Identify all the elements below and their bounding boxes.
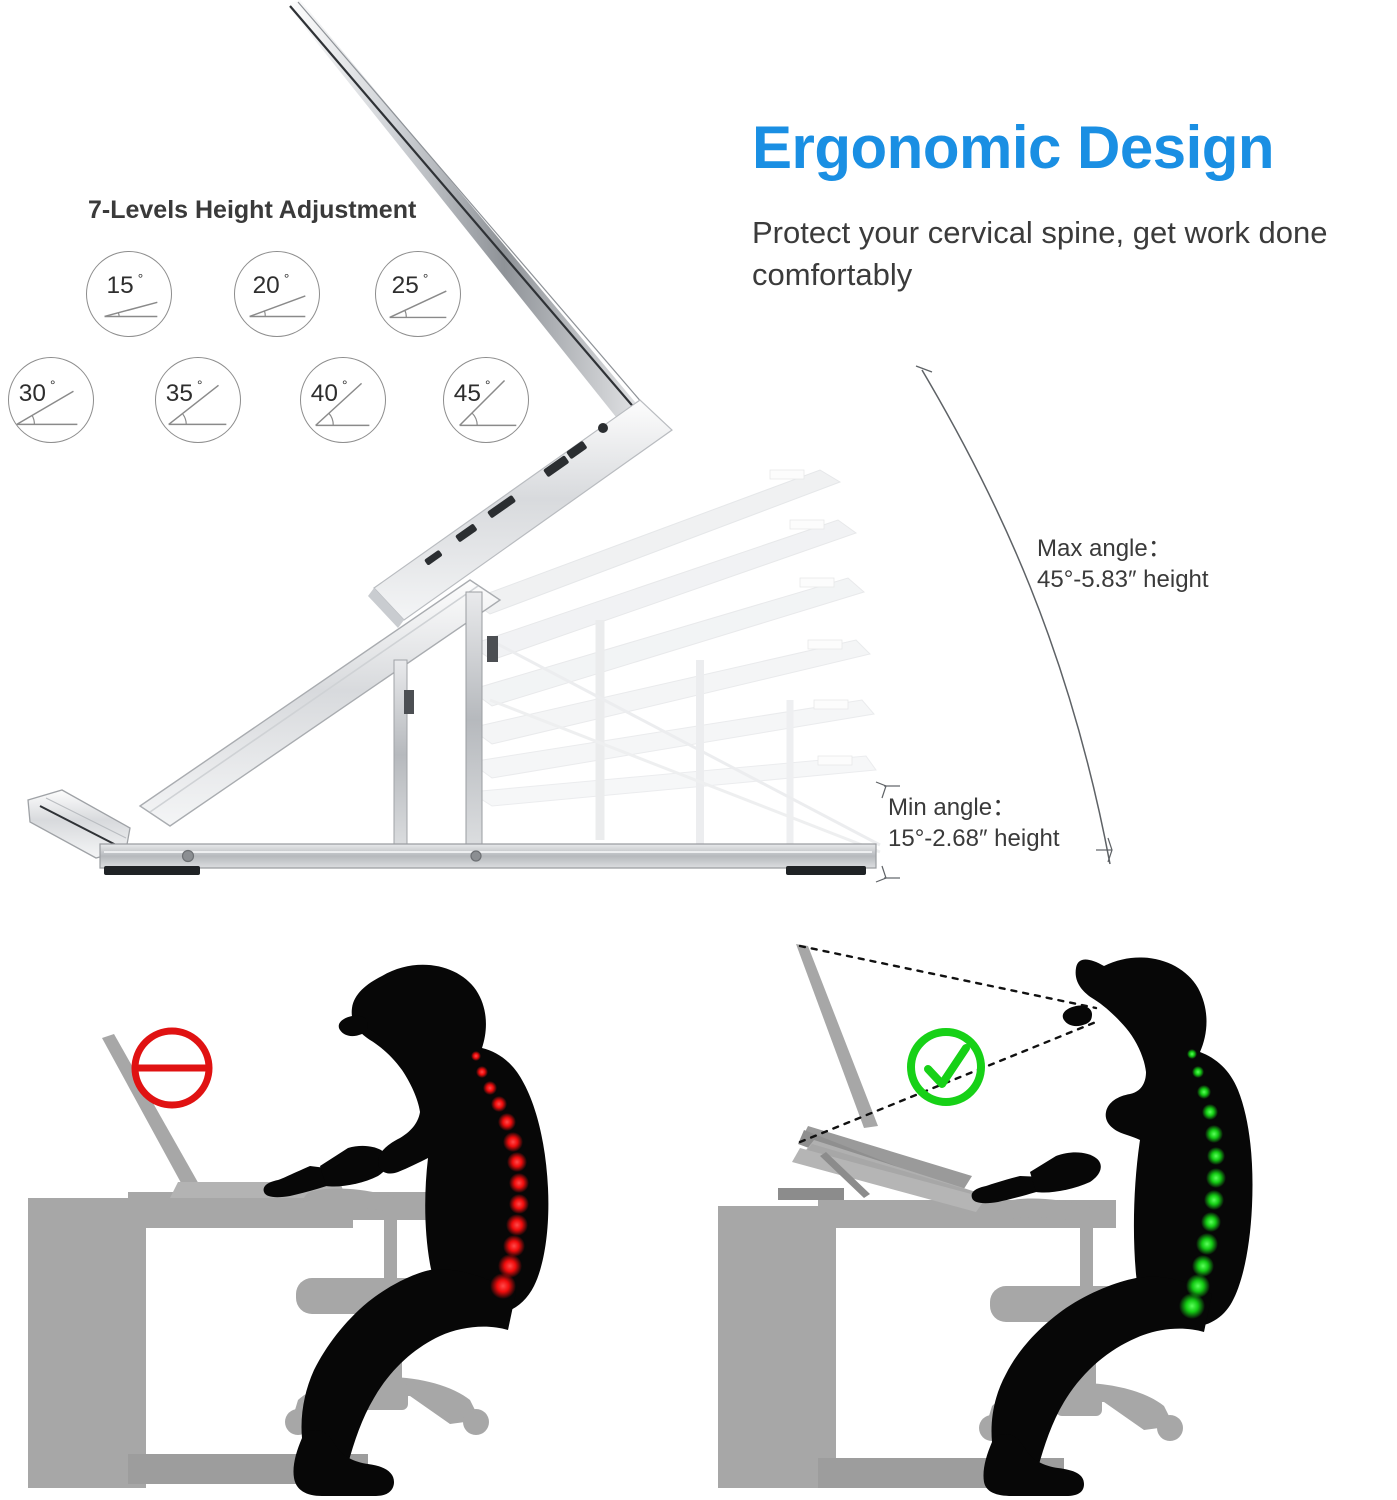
product-illustration [0, 0, 900, 900]
scene-good-posture [700, 930, 1390, 1500]
prohibition-icon [135, 1031, 209, 1105]
scene-bad-posture [10, 930, 700, 1500]
check-circle-icon [911, 1032, 981, 1102]
laptop-lid [286, 0, 655, 432]
max-angle-label: Max angle： [1037, 533, 1209, 564]
laptop-on-stand [778, 944, 986, 1212]
stand-base-rail [100, 844, 876, 875]
stand-top-plate [140, 580, 500, 826]
min-angle-label: Min angle： [888, 792, 1060, 823]
max-angle-value: 45°-5.83″ height [1037, 564, 1209, 595]
min-angle-bracket [862, 778, 902, 888]
max-angle-callout: Max angle： 45°-5.83″ height [1037, 533, 1209, 595]
min-angle-callout: Min angle： 15°-2.68″ height [888, 792, 1060, 854]
min-angle-value: 15°-2.68″ height [888, 823, 1060, 854]
